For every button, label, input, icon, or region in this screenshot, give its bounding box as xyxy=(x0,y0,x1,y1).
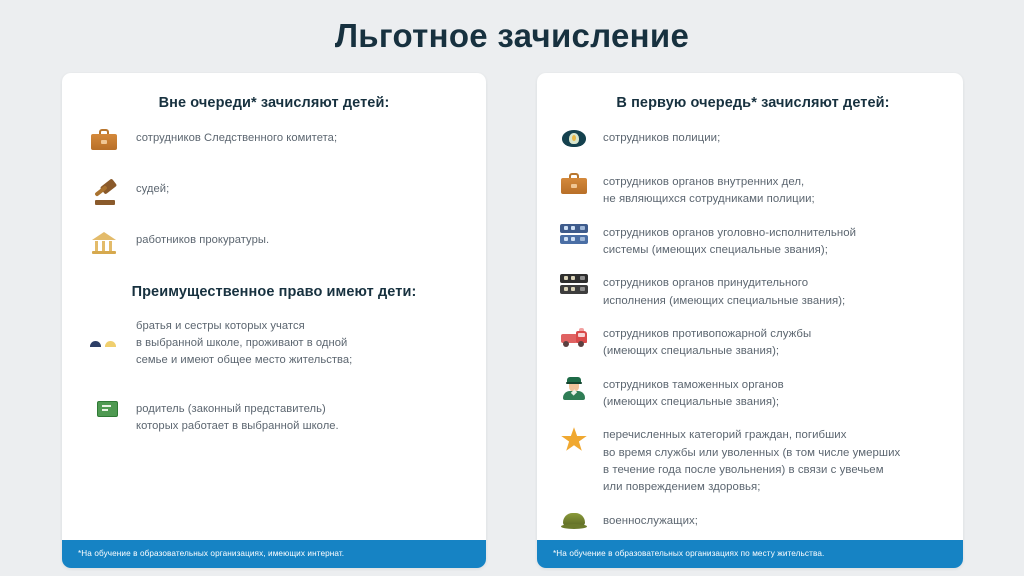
list-item: сотрудников Следственного комитета; xyxy=(82,128,466,158)
list-item-text: судей; xyxy=(136,179,169,198)
list-item-text: перечисленных категорий граждан, погибши… xyxy=(603,425,900,496)
list-item: сотрудников органов уголовно-исполнитель… xyxy=(557,223,949,260)
list-item: судей; xyxy=(82,179,466,209)
footnote-bar-right: *На обучение в образовательных организац… xyxy=(537,540,963,568)
text-line: перечисленных категорий граждан, погибши… xyxy=(603,427,900,444)
list-item: работников прокуратуры. xyxy=(82,230,466,260)
list-item: военнослужащих; xyxy=(557,511,949,541)
list-preferential-right: братья и сестры которых учатся в выбранн… xyxy=(82,316,466,435)
text-line: сотрудников таможенных органов xyxy=(603,377,784,394)
page-title: Льготное зачисление xyxy=(0,18,1024,54)
footnote-text: *На обучение в образовательных организац… xyxy=(553,550,824,558)
list-item: братья и сестры которых учатся в выбранн… xyxy=(82,316,466,369)
list-item-text: сотрудников таможенных органов (имеющих … xyxy=(603,375,784,412)
military-helmet-icon xyxy=(557,511,591,541)
text-line: исполнения (имеющих специальные звания); xyxy=(603,293,845,310)
text-line: не являющихся сотрудниками полиции; xyxy=(603,191,815,208)
list-item: сотрудников полиции; xyxy=(557,128,949,158)
star-icon xyxy=(557,425,591,455)
list-item-text: сотрудников органов уголовно-исполнитель… xyxy=(603,223,856,260)
list-item: сотрудников противопожарной службы (имею… xyxy=(557,324,949,361)
text-line: системы (имеющих специальные звания); xyxy=(603,242,856,259)
gavel-icon xyxy=(82,179,126,209)
list-item-text: работников прокуратуры. xyxy=(136,230,269,249)
footnote-text: *На обучение в образовательных организац… xyxy=(78,550,344,558)
list-item: сотрудников органов внутренних дел, не я… xyxy=(557,172,949,209)
text-line: сотрудников полиции; xyxy=(603,130,720,147)
briefcase-icon xyxy=(82,128,126,158)
bank-building-icon xyxy=(82,230,126,260)
section-heading-preferential-right: Преимущественное право имеют дети: xyxy=(82,284,466,300)
text-line: братья и сестры которых учатся xyxy=(136,318,352,335)
text-line: семье и имеют общее место жительства; xyxy=(136,352,352,369)
text-line: (имеющих специальные звания); xyxy=(603,394,784,411)
text-line: сотрудников органов принудительного xyxy=(603,275,845,292)
text-line: в выбранной школе, проживают в одной xyxy=(136,335,352,352)
card-right-body: В первую очередь* зачисляют детей: сотру… xyxy=(537,73,963,540)
text-line: которых работает в выбранной школе. xyxy=(136,418,339,435)
list-first-priority: сотрудников полиции; сотрудников органов… xyxy=(557,128,949,568)
text-line: родитель (законный представитель) xyxy=(136,401,339,418)
briefcase-icon xyxy=(557,172,591,202)
footnote-bar-left: *На обучение в образовательных организац… xyxy=(62,540,486,568)
list-out-of-turn: сотрудников Следственного комитета; суде… xyxy=(82,128,466,260)
customs-officer-icon xyxy=(557,375,591,405)
text-line: военнослужащих; xyxy=(603,513,698,530)
two-children-icon xyxy=(82,316,126,346)
list-item-text: сотрудников Следственного комитета; xyxy=(136,128,337,147)
list-item-text: братья и сестры которых учатся в выбранн… xyxy=(136,316,352,369)
police-van-icon xyxy=(557,223,591,253)
text-line: сотрудников органов уголовно-исполнитель… xyxy=(603,225,856,242)
text-line: в течение года после увольнения) в связи… xyxy=(603,462,900,479)
police-badge-icon xyxy=(557,128,591,158)
list-item: родитель (законный представитель) которы… xyxy=(82,399,466,435)
section-heading-out-of-turn: Вне очереди* зачисляют детей: xyxy=(82,95,466,111)
teacher-chalkboard-icon xyxy=(82,399,126,429)
infographic-page: Льготное зачисление Вне очереди* зачисля… xyxy=(0,0,1024,576)
list-item: сотрудников органов принудительного испо… xyxy=(557,273,949,310)
list-item: сотрудников таможенных органов (имеющих … xyxy=(557,375,949,412)
text-line: (имеющих специальные звания); xyxy=(603,343,811,360)
enforcement-van-icon xyxy=(557,273,591,303)
card-first-priority: В первую очередь* зачисляют детей: сотру… xyxy=(537,73,963,568)
list-item-text: военнослужащих; xyxy=(603,511,698,530)
section-heading-first-priority: В первую очередь* зачисляют детей: xyxy=(557,95,949,111)
card-left-body: Вне очереди* зачисляют детей: сотруднико… xyxy=(62,73,486,540)
fire-truck-icon xyxy=(557,324,591,354)
text-line: сотрудников органов внутренних дел, xyxy=(603,174,815,191)
text-line: или повреждением здоровья; xyxy=(603,479,900,496)
list-item: перечисленных категорий граждан, погибши… xyxy=(557,425,949,496)
text-line: во время службы или уволенных (в том чис… xyxy=(603,445,900,462)
list-item-text: сотрудников органов принудительного испо… xyxy=(603,273,845,310)
card-out-of-turn: Вне очереди* зачисляют детей: сотруднико… xyxy=(62,73,486,568)
list-item-text: сотрудников противопожарной службы (имею… xyxy=(603,324,811,361)
list-item-text: сотрудников полиции; xyxy=(603,128,720,147)
list-item-text: родитель (законный представитель) которы… xyxy=(136,399,339,435)
text-line: сотрудников противопожарной службы xyxy=(603,326,811,343)
list-item-text: сотрудников органов внутренних дел, не я… xyxy=(603,172,815,209)
